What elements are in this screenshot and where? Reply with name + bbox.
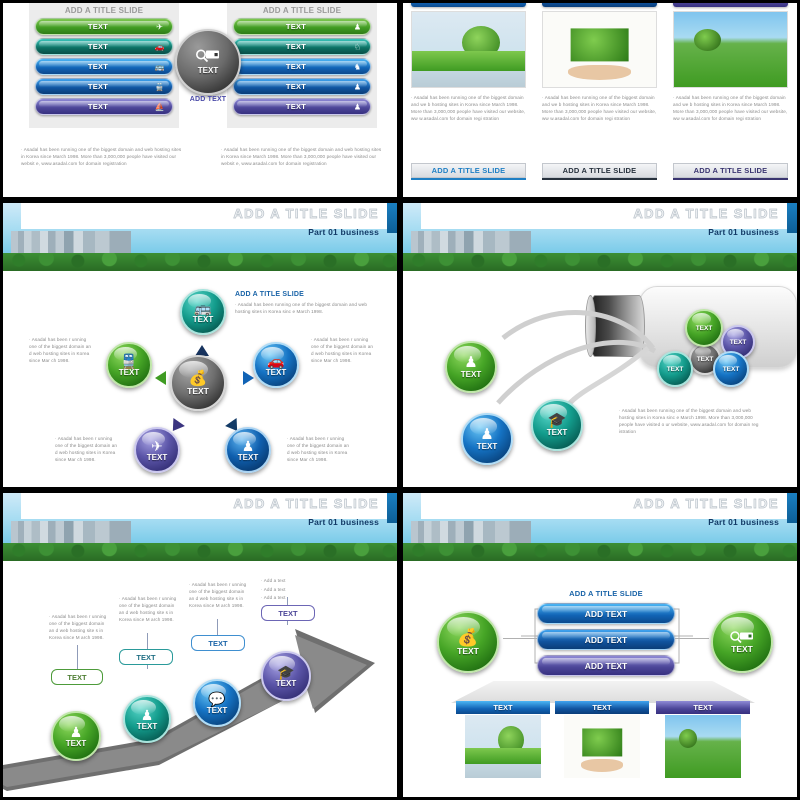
pill-button-airplane[interactable]: TEXT ✈: [35, 18, 173, 35]
header-title: ADD A TITLE SLIDE: [233, 496, 379, 511]
slide-1-transport-people[interactable]: ADD A TITLE SLIDE TEXT ✈ TEXT 🚗 TEXT 🚌 T…: [0, 0, 400, 200]
taxi-icon: 🚗: [154, 41, 165, 52]
city-skyline-image: [11, 521, 131, 543]
callout-2[interactable]: TEXT: [119, 649, 173, 665]
bullet-mark: ·: [49, 614, 51, 619]
node-label: TEXT: [238, 453, 258, 462]
slide-2-three-column-images[interactable]: · Asadal has been running one of the big…: [400, 0, 800, 200]
header-title: ADD A TITLE SLIDE: [233, 206, 379, 221]
capsule-3[interactable]: ADD TEXT: [537, 655, 675, 676]
button-wrap-3: ADD A TITLE SLIDE: [665, 163, 796, 180]
node-label: TEXT: [276, 679, 296, 688]
add-text-list: · Add a text · Add a text · Add a text: [261, 577, 323, 603]
hub-label: TEXT: [198, 66, 218, 75]
person-icon: ♟: [141, 708, 154, 722]
header-title: ADD A TITLE SLIDE: [633, 496, 779, 511]
tree-line-image: [403, 253, 797, 271]
flow-arrows: [473, 293, 673, 413]
bullet-mark: ·: [235, 302, 237, 307]
button-underline-2: [542, 178, 657, 180]
node-label: TEXT: [119, 368, 139, 377]
pill-label: TEXT: [88, 22, 108, 31]
add-title-slide-button-2[interactable]: ADD A TITLE SLIDE: [542, 163, 657, 178]
pill-button-person[interactable]: TEXT ♟: [233, 78, 371, 95]
pill-button-person-award[interactable]: TEXT ♟: [233, 98, 371, 115]
step-node-1[interactable]: ♟ TEXT: [51, 711, 101, 761]
step-text-1: · Asadal has been r unning one of the bi…: [49, 613, 109, 641]
column-3-paragraph: Asadal has been running one of the bigge…: [673, 95, 787, 121]
outside-node-people[interactable]: ♟ TEXT: [461, 413, 513, 465]
add-text-item-2: · Add a text: [261, 586, 323, 595]
tree-shape: [694, 29, 721, 52]
add-text-label: Add a text: [264, 587, 286, 592]
green-field-image: [673, 11, 788, 88]
bullet-mark: ·: [619, 408, 621, 413]
node-label: TEXT: [147, 453, 167, 462]
money-bag-icon: 💰: [189, 371, 208, 386]
header-blue-cap: [387, 493, 397, 523]
header-subtitle: Part 01 business: [708, 227, 779, 237]
node-label: TEXT: [193, 315, 213, 324]
left-node[interactable]: 💰 TEXT: [437, 611, 499, 673]
bullet-mark: ·: [119, 596, 121, 601]
money-bag-icon: 💰: [457, 629, 478, 646]
thumb-label-3: TEXT: [656, 701, 750, 714]
tree-line-image: [3, 253, 397, 271]
callout-3[interactable]: TEXT: [191, 635, 245, 651]
arrow-right: [243, 371, 254, 385]
footer-texts: · Asadal has been running one of the big…: [3, 146, 400, 167]
bullet-mark: ·: [261, 587, 263, 592]
slide4-paragraph: Asadal has been running one of the bigge…: [619, 408, 759, 434]
column-1-text: · Asadal has been running one of the big…: [411, 94, 526, 122]
text-bottom-right: · Asadal has been r unning one of the bi…: [287, 435, 353, 463]
bottom-right-paragraph: Asadal has been r unning one of the bigg…: [287, 436, 349, 462]
right-paragraph: Asadal has been r unning one of the bigg…: [311, 337, 373, 363]
right-button-list: TEXT ♟ TEXT ♘ TEXT ♞ TEXT ♟ TEXT ♟: [227, 18, 377, 115]
slide-header-banner: ADD A TITLE SLIDE Part 01 business: [3, 493, 397, 561]
node-label: TEXT: [461, 370, 481, 379]
section-paragraph: Asadal has been running one of the bigge…: [235, 302, 367, 314]
thumb-label-2: TEXT: [555, 701, 649, 714]
taxi-icon: 🚗: [267, 354, 284, 368]
column-1-paragraph: Asadal has been running one of the bigge…: [411, 95, 525, 121]
pill-button-person-search[interactable]: TEXT ♘: [233, 38, 371, 55]
left-paragraph: Asadal has been r unning one of the bigg…: [29, 337, 91, 363]
outside-node-person[interactable]: ♟ TEXT: [445, 341, 497, 393]
slide-5-growth-arrow[interactable]: ADD A TITLE SLIDE Part 01 business TEXT …: [0, 490, 400, 800]
person-search-icon: ♘: [352, 41, 363, 52]
city-skyline-image: [411, 231, 531, 253]
bullet-mark: ·: [673, 95, 675, 100]
header-subtitle: Part 01 business: [308, 517, 379, 527]
section-text: · Asadal has been running one of the big…: [235, 301, 380, 315]
node-label: TEXT: [66, 739, 86, 748]
train-icon: 🚆: [120, 354, 137, 368]
person-icon: ♟: [352, 81, 363, 92]
pill-button-bus[interactable]: TEXT 🚌: [35, 58, 173, 75]
center-hub-button[interactable]: TEXT: [175, 29, 241, 95]
column-2-cap-bar: [542, 0, 657, 7]
heart-tree-hand-image: [542, 11, 657, 88]
button-wrap-2: ADD A TITLE SLIDE: [534, 163, 665, 180]
column-container: · Asadal has been running one of the big…: [403, 0, 797, 122]
node-label: TEXT: [730, 339, 747, 346]
people-icon: ♟: [242, 439, 255, 453]
text-right: · Asadal has been r unning one of the bi…: [311, 336, 377, 364]
inside-node-green[interactable]: TEXT: [685, 309, 723, 347]
tree-shape: [462, 26, 500, 59]
train-icon: 🚆: [154, 81, 165, 92]
bullet-mark: ·: [221, 147, 223, 152]
person-graduate-icon: 🎓: [548, 413, 567, 428]
pill-button-taxi[interactable]: TEXT 🚗: [35, 38, 173, 55]
hub-caption: ADD TEXT: [175, 96, 241, 103]
city-skyline-image: [11, 231, 131, 253]
left-panel: ADD A TITLE SLIDE TEXT ✈ TEXT 🚗 TEXT 🚌 T…: [29, 3, 179, 128]
tree-line-image: [3, 543, 397, 561]
person-tie-icon: ♞: [352, 61, 363, 72]
slide-header-banner: ADD A TITLE SLIDE Part 01 business: [403, 203, 797, 271]
heart-tree-shape: [582, 728, 622, 756]
tree-lightbulb-image: [411, 11, 526, 88]
gallery-shelf: [451, 681, 755, 703]
person-group-icon: ♟: [352, 21, 363, 32]
node-label: TEXT: [207, 706, 227, 715]
node-train[interactable]: 🚆 TEXT: [106, 342, 152, 388]
section-title: ADD A TITLE SLIDE: [235, 291, 304, 298]
node-label: TEXT: [477, 442, 497, 451]
node-label: TEXT: [547, 428, 567, 437]
header-title: ADD A TITLE SLIDE: [633, 206, 779, 221]
column-3-cap-bar: [673, 0, 788, 7]
column-2-text: · Asadal has been running one of the big…: [542, 94, 657, 122]
left-connector-line: [503, 638, 537, 639]
bullet-mark: ·: [55, 436, 57, 441]
pill-button-train[interactable]: TEXT 🚆: [35, 78, 173, 95]
step-1-paragraph: Asadal has been r unning one of the bigg…: [49, 614, 106, 640]
pill-label: TEXT: [286, 42, 306, 51]
footer-right-paragraph: Asadal has been running one of the bigge…: [221, 147, 381, 166]
tree-shape: [679, 729, 697, 748]
person-award-icon: ♟: [352, 101, 363, 112]
right-panel-title: ADD A TITLE SLIDE: [227, 3, 377, 15]
bullet-mark: ·: [311, 337, 313, 342]
header-subtitle: Part 01 business: [308, 227, 379, 237]
person-icon: ♟: [464, 355, 477, 370]
left-node-label: TEXT: [457, 646, 479, 656]
column-1: · Asadal has been running one of the big…: [403, 0, 534, 122]
capsule-2[interactable]: ADD TEXT: [537, 629, 675, 650]
left-button-list: TEXT ✈ TEXT 🚗 TEXT 🚌 TEXT 🚆 TEXT ⛵: [29, 18, 179, 115]
add-title-slide-button-1[interactable]: ADD A TITLE SLIDE: [411, 163, 526, 178]
pill-button-ship[interactable]: TEXT ⛵: [35, 98, 173, 115]
person-chat-icon: 💬: [208, 692, 225, 706]
pill-label: TEXT: [88, 82, 108, 91]
bullet-mark: ·: [189, 582, 191, 587]
pill-label: TEXT: [88, 42, 108, 51]
column-1-cap-bar: [411, 0, 526, 7]
step-3-paragraph: Asadal has been r unning one of the bigg…: [189, 582, 246, 608]
header-blue-cap: [787, 203, 797, 233]
right-node[interactable]: TEXT: [711, 611, 773, 673]
add-text-item-3: · Add a text: [261, 594, 323, 603]
footer-left-text: · Asadal has been running one of the big…: [3, 146, 203, 167]
footer-right-text: · Asadal has been running one of the big…: [203, 146, 400, 167]
capsule-1[interactable]: ADD TEXT: [537, 603, 675, 624]
left-panel-title: ADD A TITLE SLIDE: [29, 3, 179, 15]
add-title-slide-button-3[interactable]: ADD A TITLE SLIDE: [673, 163, 788, 178]
step-node-4[interactable]: 🎓 TEXT: [261, 651, 311, 701]
right-panel: ADD A TITLE SLIDE TEXT ♟ TEXT ♘ TEXT ♞ T…: [227, 3, 377, 128]
bullet-mark: ·: [261, 595, 263, 600]
tree-lightbulb-image: [465, 715, 541, 778]
bullet-mark: ·: [29, 337, 31, 342]
pill-label: TEXT: [286, 82, 306, 91]
header-subtitle: Part 01 business: [708, 517, 779, 527]
step-node-2[interactable]: ♟ TEXT: [123, 695, 171, 743]
node-airplane[interactable]: ✈ TEXT: [134, 427, 180, 473]
bullet-mark: ·: [287, 436, 289, 441]
slide-4-funnel-capsule[interactable]: ADD A TITLE SLIDE Part 01 business ♟ TEX…: [400, 200, 800, 490]
button-underline-3: [673, 178, 788, 180]
magnifier-card-icon: [729, 631, 755, 644]
people-icon: ♟: [480, 427, 493, 442]
column-3: · Asadal has been running one of the big…: [665, 0, 796, 122]
column-3-text: · Asadal has been running one of the big…: [673, 94, 788, 122]
step-2-paragraph: Asadal has been r unning one of the bigg…: [119, 596, 176, 622]
airplane-icon: ✈: [154, 21, 165, 32]
ship-icon: ⛵: [154, 101, 165, 112]
people-icon: ♟: [70, 725, 83, 739]
green-field-image: [665, 715, 741, 778]
node-label: TEXT: [697, 356, 714, 363]
heart-tree-hand-image: [564, 715, 640, 778]
person-graduate-icon: 🎓: [277, 665, 294, 679]
city-skyline-image: [411, 521, 531, 543]
bullet-mark: ·: [261, 578, 263, 583]
bus-icon: 🚌: [194, 301, 211, 315]
bullet-mark: ·: [542, 95, 544, 100]
magnifier-card-icon: [195, 49, 221, 63]
title-button-row: ADD A TITLE SLIDE ADD A TITLE SLIDE ADD …: [403, 163, 797, 180]
node-bus[interactable]: 🚌 TEXT: [180, 289, 226, 335]
add-text-item-1: · Add a text: [261, 577, 323, 586]
node-label: TEXT: [137, 722, 157, 731]
node-label: TEXT: [696, 325, 713, 332]
bus-icon: 🚌: [154, 61, 165, 72]
hand-shape: [568, 65, 631, 80]
pill-label: TEXT: [88, 62, 108, 71]
pill-label: TEXT: [286, 102, 306, 111]
center-title: ADD A TITLE SLIDE: [537, 589, 675, 598]
callout-1[interactable]: TEXT: [51, 669, 103, 685]
header-blue-cap: [387, 203, 397, 233]
slide-6-process-and-gallery[interactable]: ADD A TITLE SLIDE Part 01 business ADD A…: [400, 490, 800, 800]
node-label: TEXT: [667, 366, 684, 373]
column-2: · Asadal has been running one of the big…: [534, 0, 665, 122]
slide-header-banner: ADD A TITLE SLIDE Part 01 business: [3, 203, 397, 271]
text-bottom-left: · Asadal has been r unning one of the bi…: [55, 435, 119, 463]
center-node-label: TEXT: [187, 386, 209, 396]
pill-label: TEXT: [88, 102, 108, 111]
step-node-3[interactable]: 💬 TEXT: [193, 679, 241, 727]
right-connector-line: [675, 638, 709, 639]
slide-header-banner: ADD A TITLE SLIDE Part 01 business: [403, 493, 797, 561]
pill-label: TEXT: [286, 22, 306, 31]
tree-line-image: [403, 543, 797, 561]
outside-node-graduate[interactable]: 🎓 TEXT: [531, 399, 583, 451]
text-left: · Asadal has been r unning one of the bi…: [29, 336, 93, 364]
inside-node-blue[interactable]: TEXT: [713, 351, 749, 387]
pill-button-person-tie[interactable]: TEXT ♞: [233, 58, 371, 75]
center-node[interactable]: 💰 TEXT: [170, 355, 226, 411]
right-node-label: TEXT: [731, 644, 753, 654]
button-wrap-1: ADD A TITLE SLIDE: [403, 163, 534, 180]
slide-thumbnail-grid: ADD A TITLE SLIDE TEXT ✈ TEXT 🚗 TEXT 🚌 T…: [0, 0, 800, 800]
thumb-label-1: TEXT: [456, 701, 550, 714]
slide-3-hub-and-spoke[interactable]: ADD A TITLE SLIDE Part 01 business ADD A…: [0, 200, 400, 490]
bullet-mark: ·: [411, 95, 413, 100]
node-label: TEXT: [723, 366, 740, 373]
column-2-paragraph: Asadal has been running one of the bigge…: [542, 95, 656, 121]
footer-left-paragraph: Asadal has been running one of the bigge…: [21, 147, 181, 166]
heart-tree-shape: [570, 28, 629, 61]
pill-button-person-group[interactable]: TEXT ♟: [233, 18, 371, 35]
bottom-left-paragraph: Asadal has been r unning one of the bigg…: [55, 436, 117, 462]
add-text-label: Add a text: [264, 578, 286, 583]
tree-shape: [498, 726, 524, 754]
callout-4[interactable]: TEXT: [261, 605, 315, 621]
add-text-label: Add a text: [264, 595, 286, 600]
pill-label: TEXT: [286, 62, 306, 71]
hand-shape: [581, 759, 624, 772]
header-blue-cap: [787, 493, 797, 523]
airplane-icon: ✈: [151, 439, 163, 453]
node-people[interactable]: ♟ TEXT: [225, 427, 271, 473]
step-text-2: · Asadal has been r unning one of the bi…: [119, 595, 179, 623]
slide4-text: · Asadal has been running one of the big…: [619, 407, 759, 435]
step-text-3: · Asadal has been r unning one of the bi…: [189, 581, 249, 609]
button-underline-1: [411, 178, 526, 180]
node-taxi[interactable]: 🚗 TEXT: [253, 342, 299, 388]
inside-node-teal[interactable]: TEXT: [657, 351, 693, 387]
node-label: TEXT: [266, 368, 286, 377]
bullet-mark: ·: [21, 147, 23, 152]
arrow-left: [155, 371, 166, 385]
